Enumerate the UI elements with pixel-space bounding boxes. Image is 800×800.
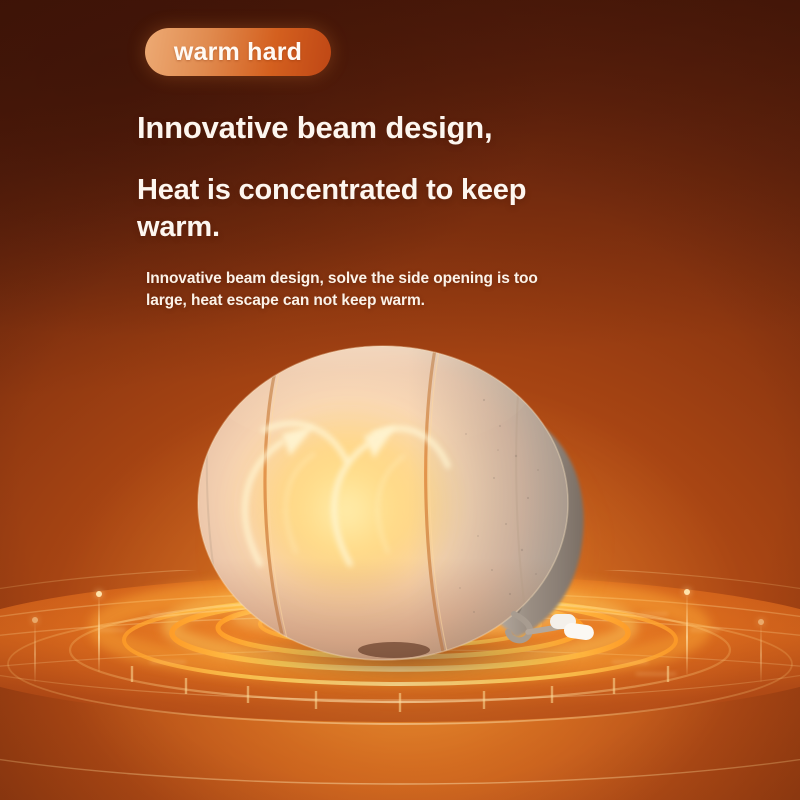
product-image-heated-pillow [198,338,608,673]
drawstring-toggle-bead [550,614,595,641]
product-marketing-poster: warm hard Innovative beam design, Heat i… [0,0,800,800]
light-pillar-right-1 [686,592,688,674]
plush-body [188,308,618,688]
light-pillar-left-2 [34,620,36,682]
sub-description: Innovative beam design, solve the side o… [146,268,556,313]
headline-secondary: Heat is concentrated to keep warm. [137,172,557,246]
light-pillar-right-2 [760,622,762,682]
light-pillar-left-1 [98,594,100,672]
badge-label: warm hard [174,38,302,67]
headline-primary: Innovative beam design, [137,110,492,146]
warm-hard-badge: warm hard [145,28,331,76]
